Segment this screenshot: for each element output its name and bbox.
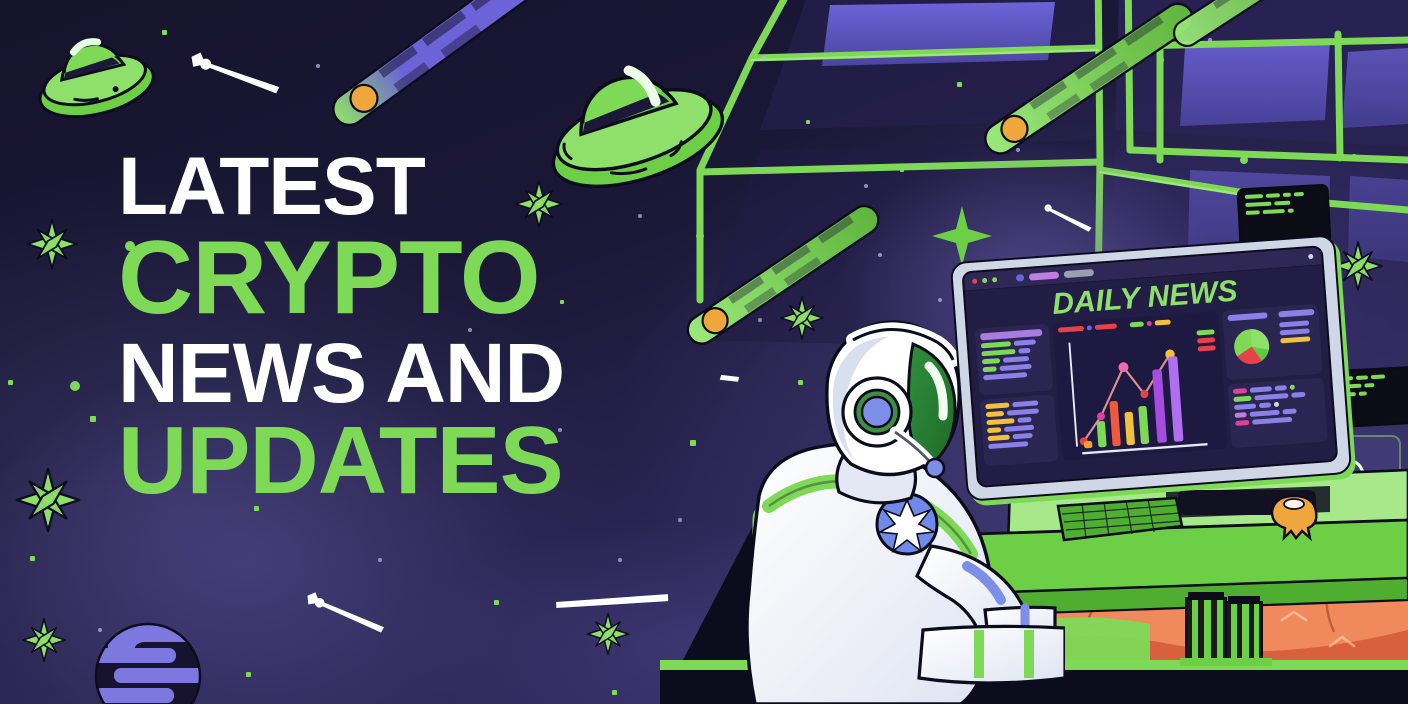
dashboard-right-column: [1222, 304, 1328, 449]
pie-chart: [1228, 323, 1275, 370]
left-panel-bottom: [980, 394, 1059, 466]
desktop-monitor[interactable]: DAILY NEWS: [950, 234, 1353, 502]
window-maximize-dot[interactable]: [992, 277, 997, 282]
monitor-screen[interactable]: DAILY NEWS: [961, 245, 1338, 488]
bar-series: [1078, 356, 1183, 448]
dashboard-left-column: [975, 323, 1059, 466]
orange-alien-figurine: [1262, 490, 1326, 542]
banner-root: DAILY NEWS: [0, 0, 1408, 704]
green-canisters: [1180, 586, 1272, 666]
window-minimize-dot[interactable]: [982, 278, 987, 283]
window-close-dot[interactable]: [972, 279, 977, 284]
right-panel-list: [1227, 377, 1327, 448]
left-panel-top: [975, 323, 1054, 395]
combined-chart: [1060, 327, 1222, 456]
dashboard: [968, 303, 1336, 474]
browser-tab-2[interactable]: [1029, 272, 1059, 281]
browser-menu-dot[interactable]: [1308, 254, 1313, 259]
browser-tab-1[interactable]: [1016, 274, 1024, 282]
right-panel-pie: [1222, 304, 1323, 381]
dashboard-chart-panel: [1052, 311, 1228, 461]
browser-tab-3[interactable]: [1064, 269, 1094, 278]
astronaut-helmet: [827, 322, 959, 477]
green-keyboard[interactable]: [1052, 496, 1184, 544]
